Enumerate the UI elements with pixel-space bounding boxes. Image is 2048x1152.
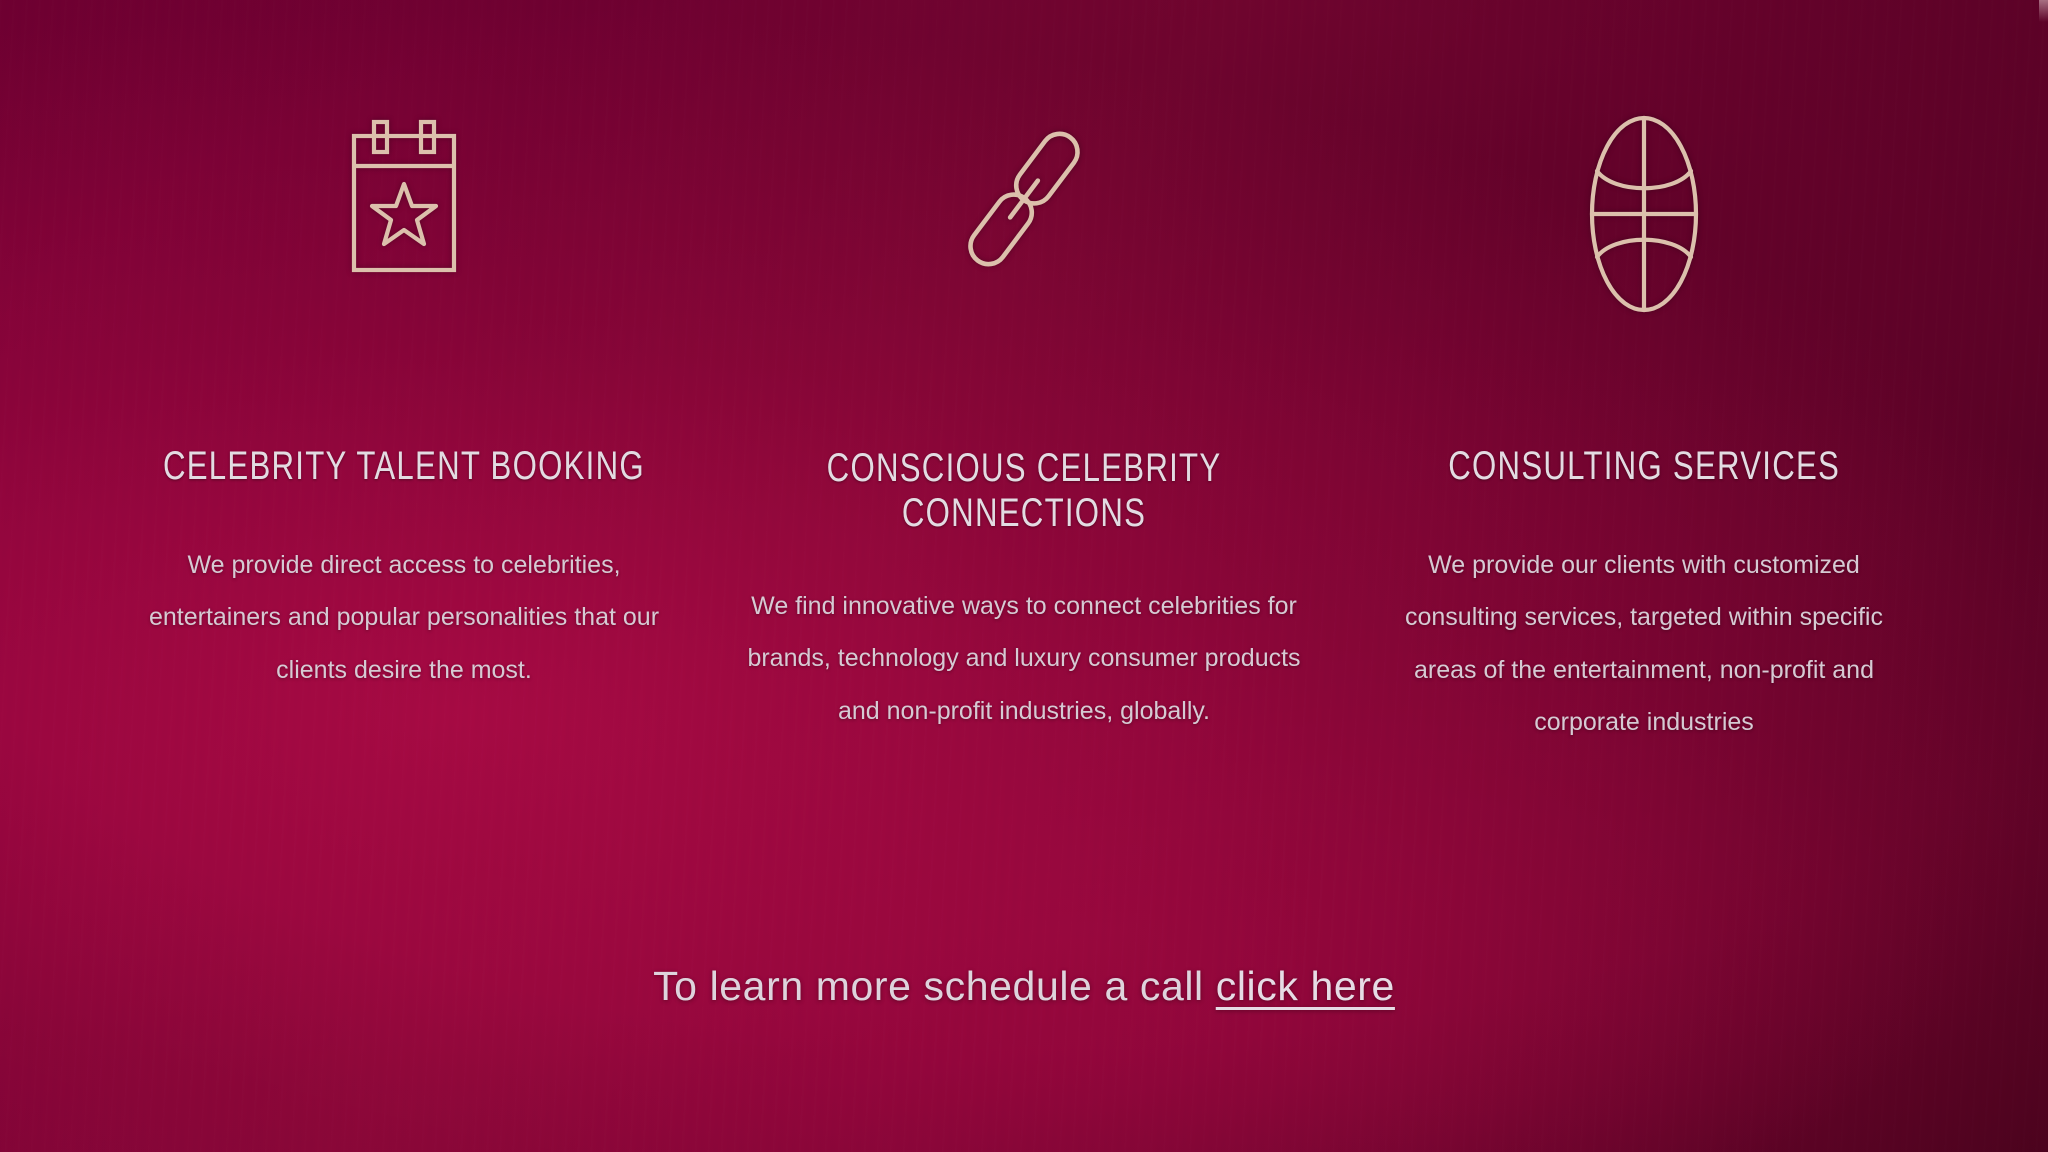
service-title: CONSULTING SERVICES (1448, 444, 1840, 489)
service-title: CONSCIOUS CELEBRITY CONNECTIONS (827, 446, 1222, 536)
service-card-conscious-celebrity-connections: CONSCIOUS CELEBRITY CONNECTIONS We find … (714, 96, 1334, 749)
service-title: CELEBRITY TALENT BOOKING (163, 444, 645, 489)
chain-link-icon (964, 96, 1084, 346)
cta-text: To learn more schedule a call (653, 963, 1216, 1009)
cta-row: To learn more schedule a call click here (0, 962, 2048, 1011)
service-description: We find innovative ways to connect celeb… (734, 580, 1314, 738)
globe-icon (1588, 96, 1700, 346)
service-card-celebrity-talent-booking: CELEBRITY TALENT BOOKING We provide dire… (94, 96, 714, 749)
service-description: We provide direct access to celebrities,… (124, 539, 684, 697)
service-card-consulting-services: CONSULTING SERVICES We provide our clien… (1334, 96, 1954, 749)
services-section: CELEBRITY TALENT BOOKING We provide dire… (0, 0, 2048, 1152)
service-description: We provide our clients with customized c… (1379, 539, 1909, 749)
services-columns: CELEBRITY TALENT BOOKING We provide dire… (0, 0, 2048, 749)
calendar-star-icon (348, 96, 460, 346)
cta-link-click-here[interactable]: click here (1216, 963, 1395, 1009)
